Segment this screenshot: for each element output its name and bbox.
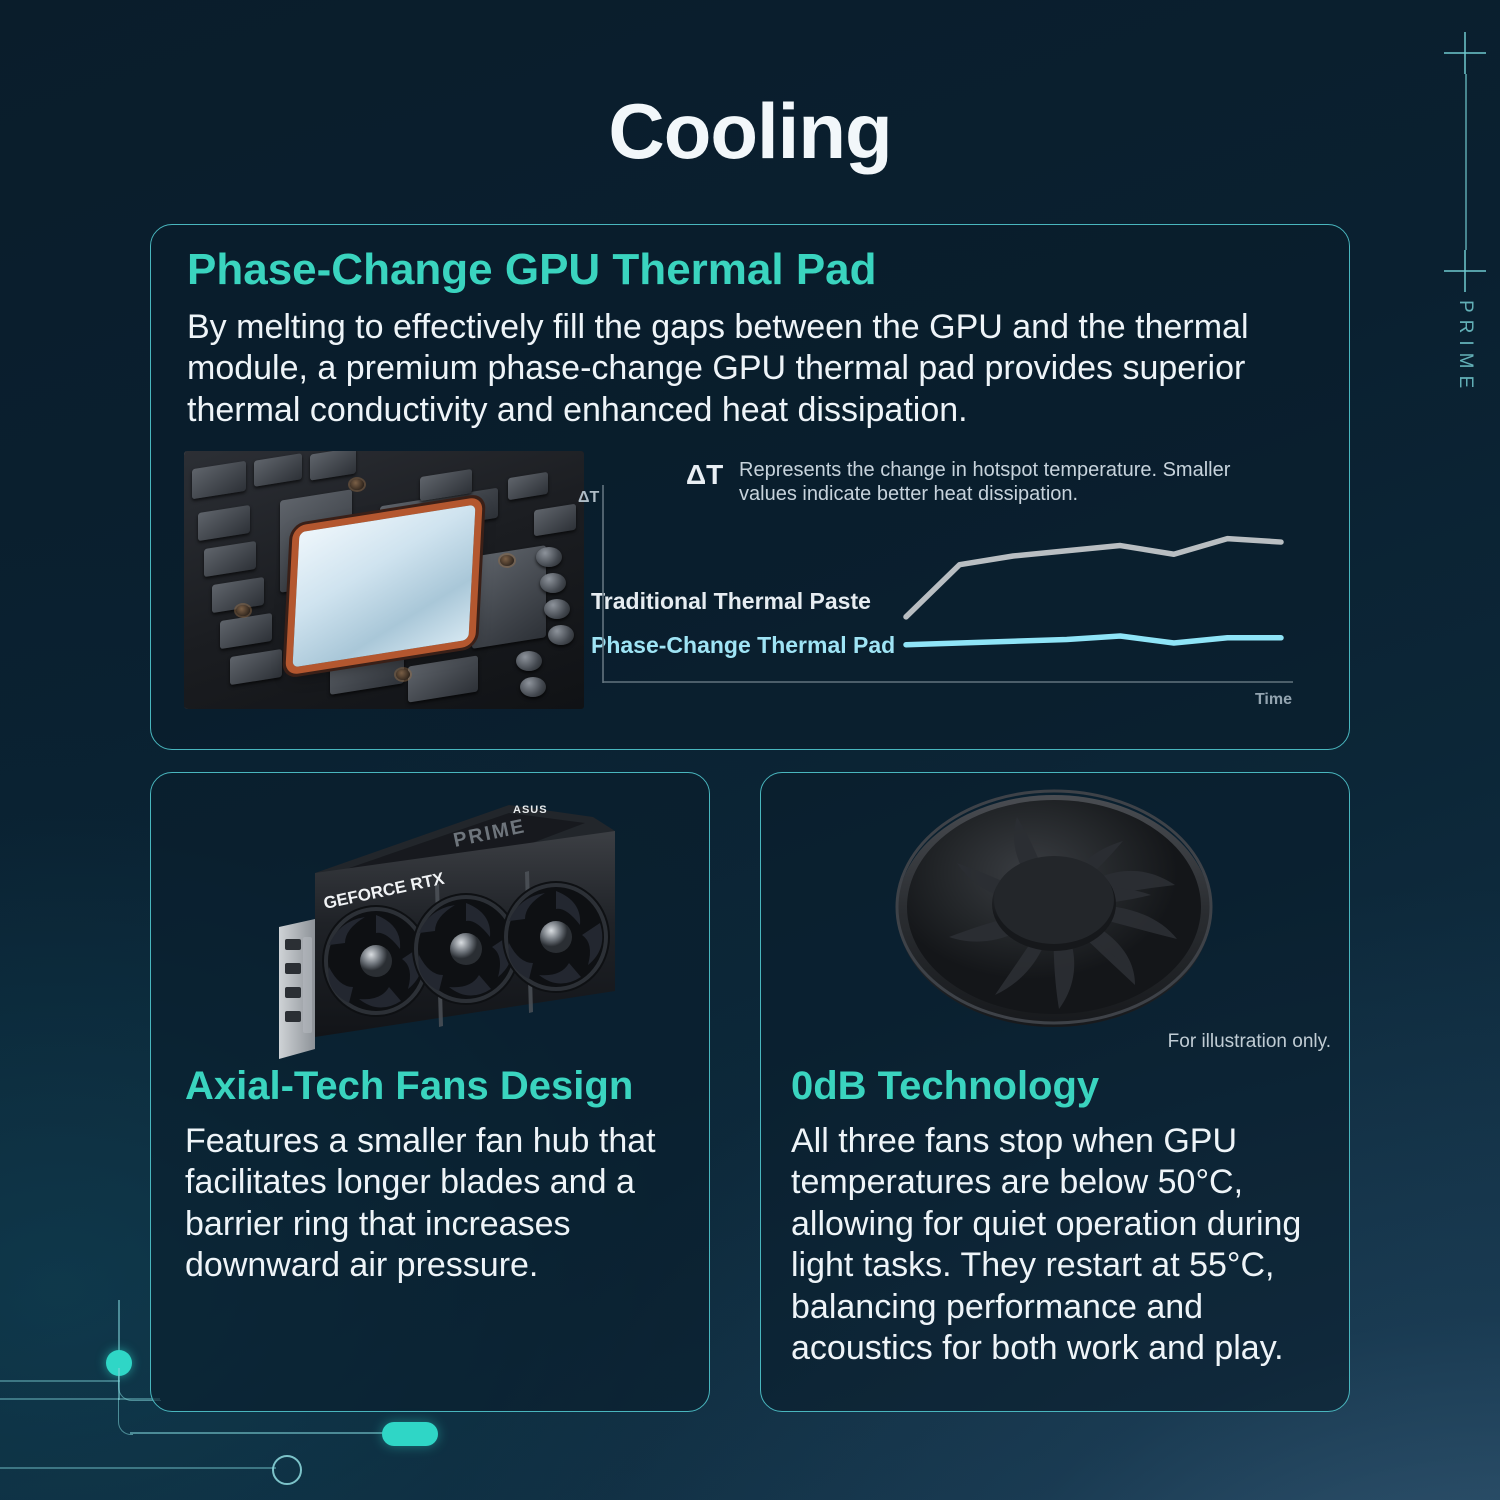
trace-line (118, 1300, 120, 1364)
trace-line (0, 1380, 120, 1382)
prime-edge-marker: PRIME (1424, 0, 1484, 480)
card-axial-tech-fans-design: GEFORCE RTX PRIME ASUS Axial-Tech Fans D… (150, 772, 710, 1412)
chart-svg (581, 451, 1316, 711)
node-ring-icon (272, 1455, 302, 1485)
page-title: Cooling (0, 92, 1500, 170)
card-body-0db-technology: All three fans stop when GPU temperature… (791, 1121, 1331, 1370)
card-title-axial-tech-fans: Axial-Tech Fans Design (185, 1065, 633, 1107)
axial-fan-illustration (889, 789, 1219, 1039)
card-fan-3 (502, 881, 610, 993)
fan-hub-top (994, 856, 1114, 944)
card-title-thermal-pad: Phase-Change GPU Thermal Pad (187, 247, 877, 293)
card-title-0db-technology: 0dB Technology (791, 1065, 1099, 1107)
plus-mark-icon (1444, 250, 1486, 292)
card-phase-change-thermal-pad: Phase-Change GPU Thermal Pad By melting … (150, 224, 1350, 750)
chart-series-phase-change-thermal-pad (906, 636, 1281, 645)
card-body-thermal-pad: By melting to effectively fill the gaps … (187, 307, 1307, 431)
brand-label: PRIME (1454, 300, 1476, 395)
plus-mark-icon (1444, 32, 1486, 74)
cooling-infographic-page: PRIME Cooling Phase-Change GPU Thermal P… (0, 0, 1500, 1500)
product-label-asus: ASUS (513, 804, 548, 816)
chart-series-traditional-thermal-paste (906, 539, 1281, 617)
trace-line (0, 1467, 276, 1469)
card-body-axial-tech-fans: Features a smaller fan hub that facilita… (185, 1121, 690, 1287)
trace-line (130, 1432, 400, 1434)
card-0db-technology: For illustration only. 0dB Technology Al… (760, 772, 1350, 1412)
graphics-card-product-image: GEFORCE RTX PRIME ASUS (263, 787, 643, 1067)
trace-line (0, 1398, 160, 1400)
trace-line (118, 1368, 120, 1400)
hotspot-temperature-chart: ΔT Represents the change in hotspot temp… (581, 451, 1316, 711)
pill-icon (382, 1422, 438, 1446)
trace-corner (118, 1398, 133, 1435)
illustration-note: For illustration only. (1168, 1031, 1331, 1053)
node-dot-icon (106, 1350, 132, 1376)
gpu-die-photo (184, 451, 584, 709)
